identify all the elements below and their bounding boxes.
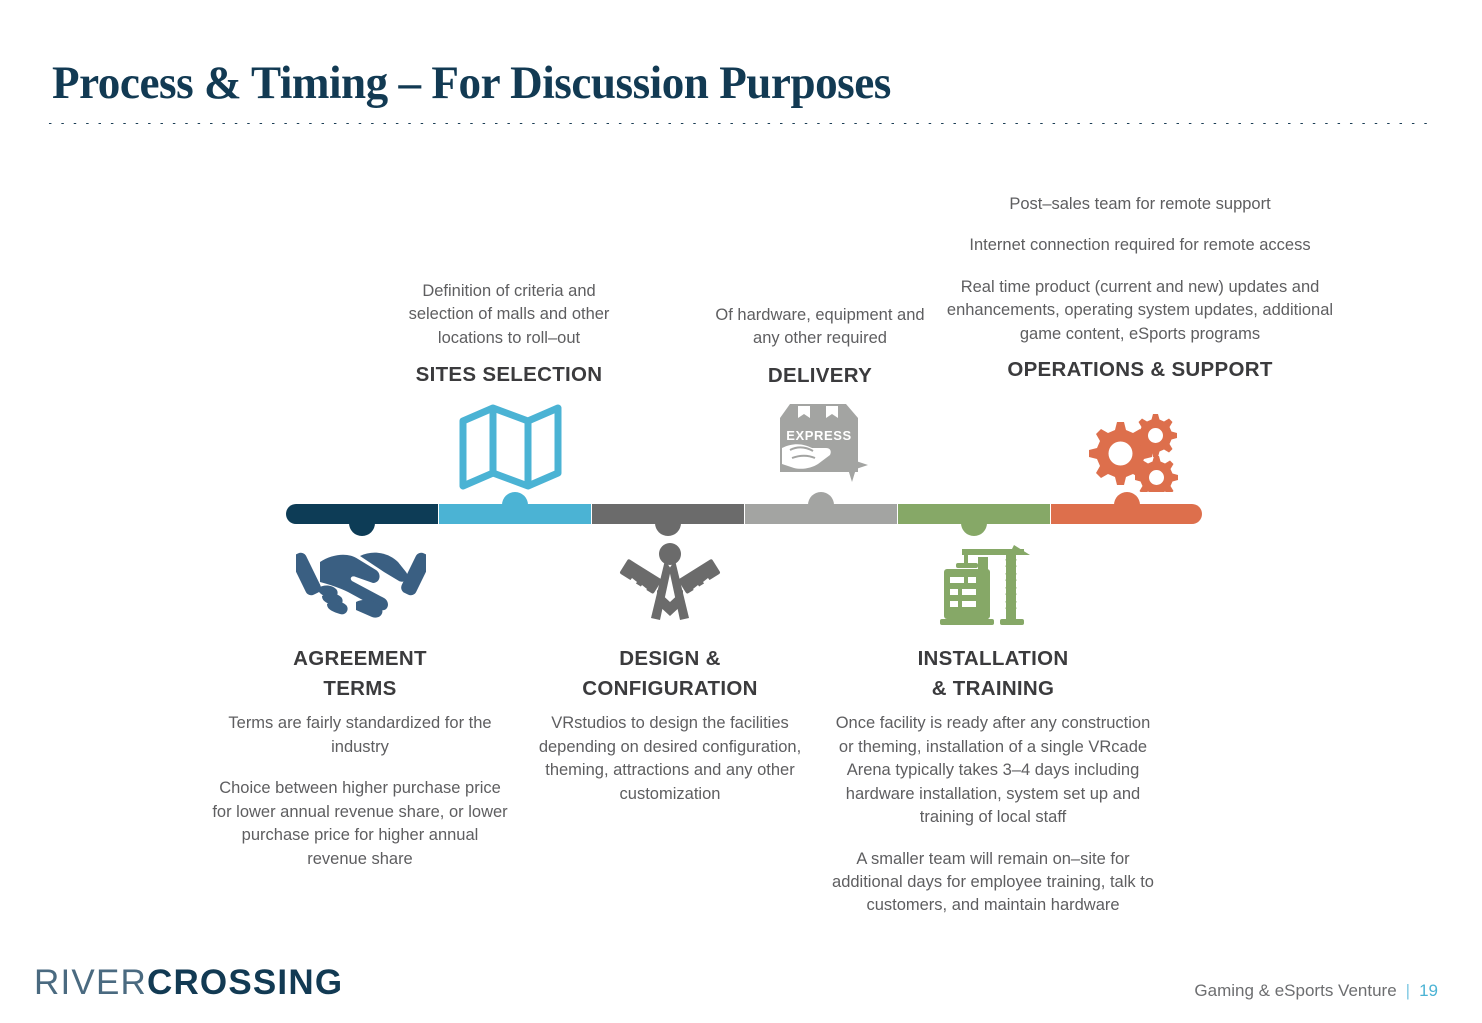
timeline-segment-design-configuration[interactable]: [592, 504, 744, 524]
process-timeline: [286, 504, 1202, 524]
footer-right: Gaming & eSports Venture|19: [1194, 981, 1438, 1001]
stage-text-delivery: Of hardware, equipment and any other req…: [712, 304, 928, 391]
delivery-box-icon: EXPRESS: [768, 398, 868, 490]
timeline-segment-delivery[interactable]: [745, 504, 897, 524]
stage-desc: Real time product (current and new) upda…: [930, 276, 1350, 346]
stage-heading: OPERATIONS & SUPPORT: [930, 355, 1350, 385]
svg-text:EXPRESS: EXPRESS: [786, 428, 852, 443]
title-divider: [44, 120, 1436, 125]
timeline-segment-agreement-terms[interactable]: [286, 504, 438, 524]
stage-heading-line2: & TRAINING: [828, 674, 1158, 704]
logo-word-river: RIVER: [34, 963, 147, 1002]
timeline-segment-installation-training[interactable]: [898, 504, 1050, 524]
page-title: Process & Timing – For Discussion Purpos…: [52, 56, 891, 110]
gears-icon: [1084, 408, 1180, 492]
stage-desc: Choice between higher purchase price for…: [212, 777, 508, 871]
drafting-compass-icon: [618, 540, 722, 628]
stage-desc: Once facility is ready after any constru…: [828, 712, 1158, 829]
stage-text-installation-training: INSTALLATION & TRAINING Once facility is…: [828, 644, 1158, 918]
stage-heading-line1: AGREEMENT: [212, 644, 508, 674]
stage-desc: A smaller team will remain on–site for a…: [828, 848, 1158, 918]
stage-heading-line2: CONFIGURATION: [535, 674, 805, 704]
stage-heading: SITES SELECTION: [389, 360, 629, 390]
rivercrossing-logo: RIVERCROSSING: [34, 963, 343, 1003]
map-icon: [458, 403, 563, 491]
stage-desc: Internet connection required for remote …: [930, 234, 1350, 257]
page-number: 19: [1419, 981, 1438, 1000]
timeline-segment-operations-support[interactable]: [1051, 504, 1202, 524]
stage-heading-line1: INSTALLATION: [828, 644, 1158, 674]
stage-text-agreement-terms: AGREEMENT TERMS Terms are fairly standar…: [212, 644, 508, 871]
stage-desc: Definition of criteria and selection of …: [389, 280, 629, 350]
stage-desc: Of hardware, equipment and any other req…: [712, 304, 928, 351]
stage-desc: VRstudios to design the facilities depen…: [535, 712, 805, 806]
slide-canvas: Process & Timing – For Discussion Purpos…: [0, 0, 1482, 1023]
stage-text-operations-support: Post–sales team for remote support Inter…: [930, 193, 1350, 385]
stage-desc: Post–sales team for remote support: [930, 193, 1350, 216]
handshake-icon: [296, 540, 426, 628]
logo-word-crossing: CROSSING: [147, 963, 343, 1002]
timeline-segment-sites-selection[interactable]: [439, 504, 591, 524]
footer-separator: |: [1406, 981, 1410, 1000]
stage-heading-line2: TERMS: [212, 674, 508, 704]
stage-heading: DELIVERY: [712, 361, 928, 391]
stage-desc: Terms are fairly standardized for the in…: [212, 712, 508, 759]
stage-text-sites-selection: Definition of criteria and selection of …: [389, 280, 629, 390]
footer-deck-label: Gaming & eSports Venture: [1194, 981, 1396, 1000]
stage-heading-line1: DESIGN &: [535, 644, 805, 674]
stage-text-design-configuration: DESIGN & CONFIGURATION VRstudios to desi…: [535, 644, 805, 806]
construction-crane-icon: [936, 535, 1036, 627]
